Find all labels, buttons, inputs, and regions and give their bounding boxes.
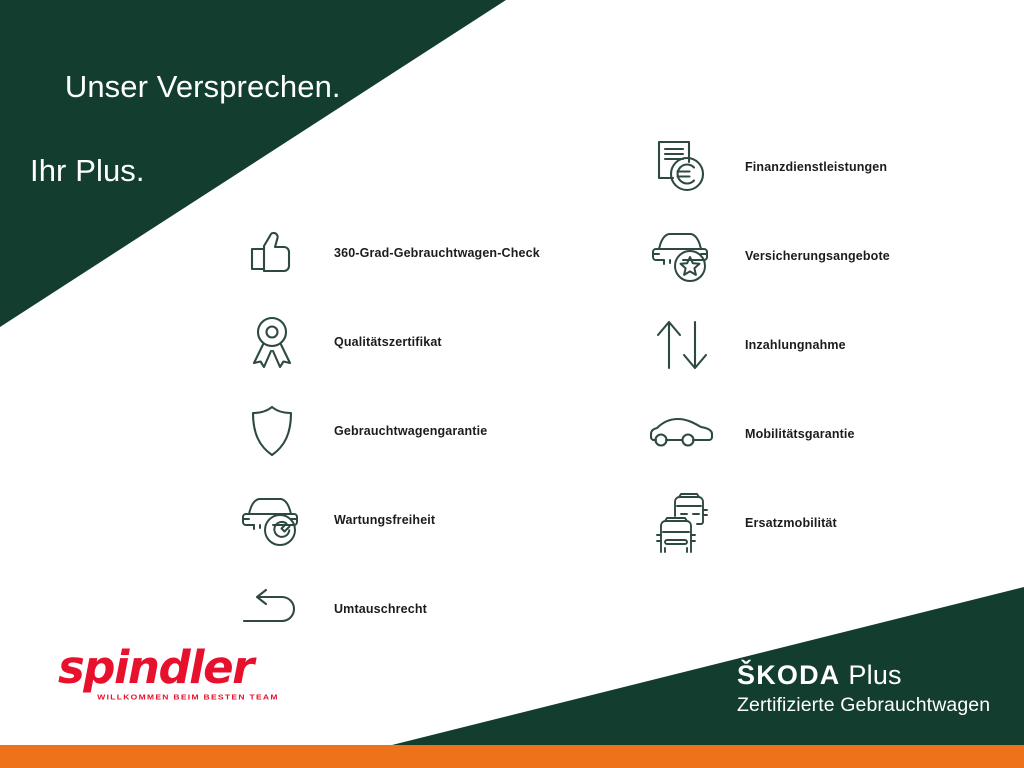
benefit-label: 360-Grad-Gebrauchtwagen-Check xyxy=(334,246,540,260)
benefit-label: Gebrauchtwagengarantie xyxy=(334,424,487,438)
benefit-item: Finanzdienstleistungen xyxy=(646,122,890,211)
benefit-item: 360-Grad-Gebrauchtwagen-Check xyxy=(236,208,540,297)
benefit-label: Versicherungsangebote xyxy=(745,249,890,263)
thumbs-up-icon xyxy=(236,221,308,285)
benefit-label: Wartungsfreiheit xyxy=(334,513,435,527)
brand-logo-subtitle: Zertifizierte Gebrauchtwagen xyxy=(737,693,990,717)
benefits-right-column: Finanzdienstleistungen Versicherungsange… xyxy=(646,122,890,567)
benefit-item: Umtauschrecht xyxy=(236,564,540,653)
shield-icon xyxy=(236,399,308,463)
car-wrench-icon xyxy=(236,488,308,552)
benefit-item: Mobilitätsgarantie xyxy=(646,389,890,478)
benefit-label: Qualitätszertifikat xyxy=(334,335,442,349)
benefit-item: Versicherungsangebote xyxy=(646,211,890,300)
brand-logo: ŠKODA Plus Zertifizierte Gebrauchtwagen xyxy=(737,660,990,717)
benefits-left-column: 360-Grad-Gebrauchtwagen-Check Qualitätsz… xyxy=(236,208,540,653)
brand-logo-name: ŠKODA xyxy=(737,660,841,690)
benefit-item: Ersatzmobilität xyxy=(646,478,890,567)
headline-line-2: Ihr Plus. xyxy=(30,150,341,192)
two-cars-icon xyxy=(646,491,718,555)
car-side-icon xyxy=(646,402,718,466)
benefit-label: Ersatzmobilität xyxy=(745,516,837,530)
up-down-arrows-icon xyxy=(646,313,718,377)
brand-logo-suffix: Plus xyxy=(848,660,901,690)
benefit-item: Gebrauchtwagengarantie xyxy=(236,386,540,475)
headline-line-1: Unser Versprechen. xyxy=(65,69,341,104)
benefit-label: Inzahlungnahme xyxy=(745,338,846,352)
dealer-logo-wordmark: spindler xyxy=(58,645,318,691)
benefit-item: Qualitätszertifikat xyxy=(236,297,540,386)
u-turn-arrow-icon xyxy=(236,577,308,641)
benefit-label: Finanzdienstleistungen xyxy=(745,160,887,174)
orange-accent-bar xyxy=(0,745,1024,768)
brand-logo-line-1: ŠKODA Plus xyxy=(737,660,990,691)
benefit-label: Umtauschrecht xyxy=(334,602,427,616)
benefit-item: Inzahlungnahme xyxy=(646,300,890,389)
dealer-logo: spindler WILLKOMMEN BEIM BESTEN TEAM xyxy=(58,645,318,702)
dealer-logo-tagline: WILLKOMMEN BEIM BESTEN TEAM xyxy=(58,693,318,702)
award-rosette-icon xyxy=(236,310,308,374)
car-star-icon xyxy=(646,224,718,288)
promo-banner: Unser Versprechen. Ihr Plus. 360-Grad-Ge… xyxy=(0,0,1024,768)
benefit-label: Mobilitätsgarantie xyxy=(745,427,855,441)
benefit-item: Wartungsfreiheit xyxy=(236,475,540,564)
document-euro-icon xyxy=(646,135,718,199)
